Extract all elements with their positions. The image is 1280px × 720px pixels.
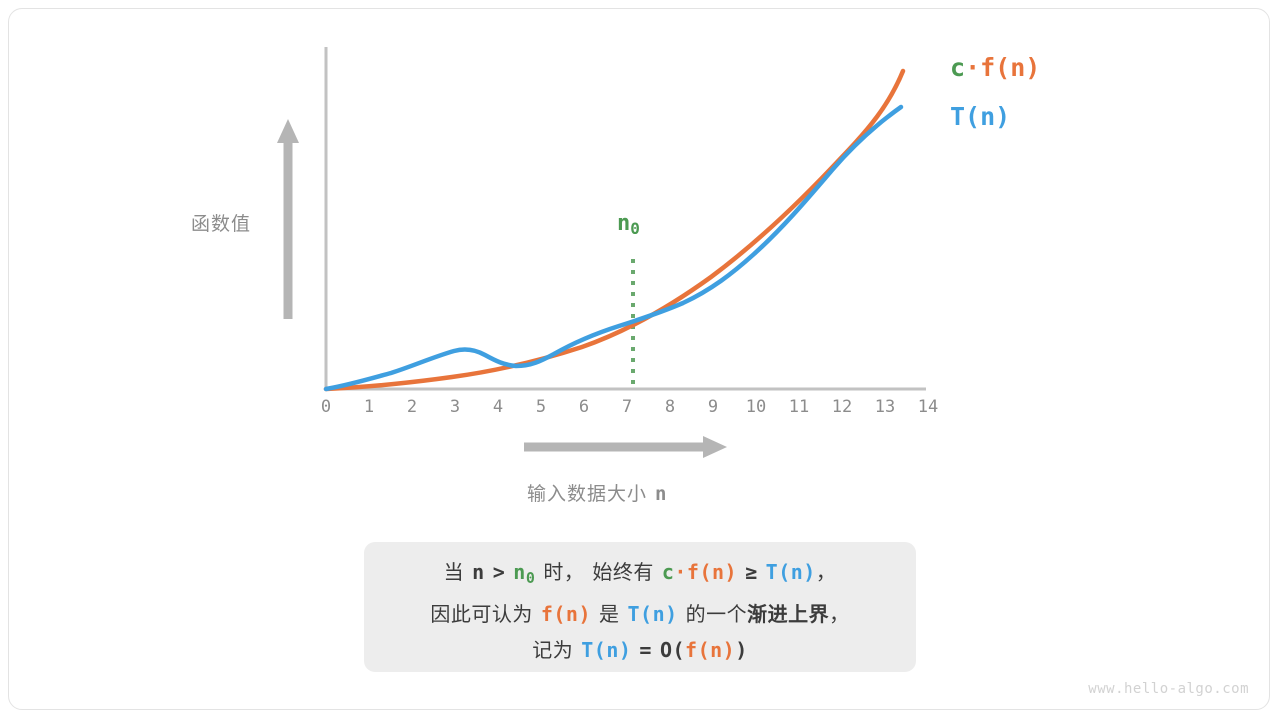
watermark: www.hello-algo.com — [1088, 681, 1249, 697]
caption-l2-therefore: 因此可认为 — [430, 602, 533, 626]
x-tick-label: 3 — [450, 397, 460, 417]
caption-box: 当n>n0时，始终有c·f(n)≥T(n)， 因此可认为f(n)是T(n)的一个… — [364, 542, 916, 672]
series-line-tn — [326, 107, 901, 389]
x-tick-label: 5 — [536, 397, 546, 417]
series-line-cfn — [326, 71, 903, 389]
caption-line-2: 因此可认为f(n)是T(n)的一个渐进上界， — [364, 596, 916, 632]
caption-l1-ge: ≥ — [745, 560, 758, 584]
x-axis-direction-arrow — [524, 436, 727, 458]
caption-l3-denoted: 记为 — [532, 638, 573, 662]
caption-l2-term: 渐进上界 — [747, 602, 829, 626]
caption-l3-fn: f(n) — [685, 638, 735, 662]
x-axis-label: 输入数据大小n — [527, 479, 667, 506]
legend-entry-cfn: c·f(n) — [950, 53, 1040, 82]
n0-annotation-label: n0 — [617, 211, 640, 238]
x-tick-label: 9 — [708, 397, 718, 417]
caption-l1-tn: T(n) — [766, 560, 816, 584]
caption-l3-close-paren: ) — [735, 638, 748, 662]
caption-l3-tn: T(n) — [581, 638, 631, 662]
caption-l2-is: 是 — [599, 602, 620, 626]
caption-l2-of-a: 的一个 — [686, 602, 748, 626]
legend-entry-tn: T(n) — [950, 102, 1010, 131]
x-tick-label: 12 — [832, 397, 852, 417]
caption-l2-comma: ， — [829, 602, 850, 626]
legend-cfn-constant: c — [950, 53, 965, 82]
x-tick-label: 6 — [579, 397, 589, 417]
caption-l1-n0: n0 — [513, 560, 535, 584]
caption-l1-gt: > — [493, 560, 506, 584]
caption-l2-fn: f(n) — [541, 602, 591, 626]
caption-l1-comma: ， — [816, 560, 837, 584]
caption-l3-eq: = — [639, 638, 652, 662]
n0-subscript: 0 — [630, 219, 640, 238]
caption-l3-bigo: O( — [660, 638, 685, 662]
legend-cfn-function: ·f(n) — [965, 53, 1040, 82]
n0-base: n — [617, 211, 630, 236]
x-tick-label: 14 — [918, 397, 938, 417]
x-axis-label-text: 输入数据大小 — [527, 483, 647, 505]
x-tick-label: 4 — [493, 397, 503, 417]
x-tick-label: 7 — [622, 397, 632, 417]
x-tick-label: 10 — [746, 397, 766, 417]
y-axis-label: 函数值 — [191, 209, 251, 236]
x-axis-label-variable: n — [655, 483, 667, 505]
x-tick-label: 1 — [364, 397, 374, 417]
legend-tn-function: T(n) — [950, 102, 1010, 131]
caption-l1-when: 当 — [444, 560, 465, 584]
caption-l1-c: c — [662, 560, 675, 584]
caption-line-1: 当n>n0时，始终有c·f(n)≥T(n)， — [364, 554, 916, 596]
caption-l1-always: 始终有 — [592, 560, 654, 584]
caption-l1-then: 时， — [543, 560, 584, 584]
x-tick-label: 0 — [321, 397, 331, 417]
x-tick-label: 8 — [665, 397, 675, 417]
x-tick-label: 2 — [407, 397, 417, 417]
y-axis-direction-arrow — [277, 119, 299, 319]
caption-l1-n: n — [472, 560, 485, 584]
caption-line-3: 记为T(n)=O(f(n)) — [364, 632, 916, 668]
x-tick-label: 11 — [789, 397, 809, 417]
caption-l1-fn: ·f(n) — [674, 560, 737, 584]
caption-l2-tn: T(n) — [628, 602, 678, 626]
asymptotic-upper-bound-figure: 函数值 输入数据大小n c·f(n) T(n) n0 0 1 2 3 4 5 6… — [9, 9, 1270, 710]
x-tick-label: 13 — [875, 397, 895, 417]
figure-canvas: 函数值 输入数据大小n c·f(n) T(n) n0 0 1 2 3 4 5 6… — [8, 8, 1270, 710]
